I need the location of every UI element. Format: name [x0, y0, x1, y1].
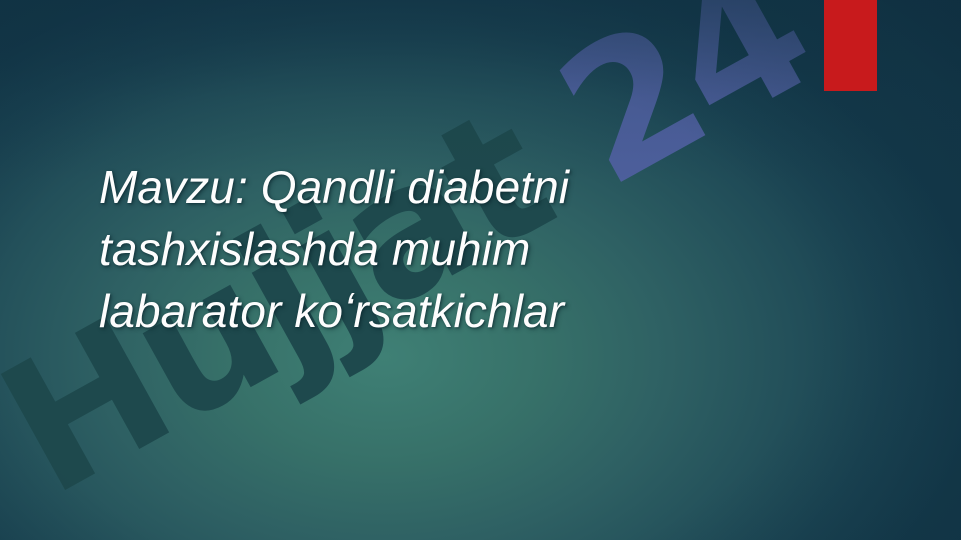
slide-title-line-3: labarator koʻrsatkichlar: [99, 280, 799, 342]
slide-title-line-1: Mavzu: Qandli diabetni: [99, 156, 799, 218]
slide-title-line-2: tashxislashda muhim: [99, 218, 799, 280]
presentation-slide: Hujjat 24 Mavzu: Qandli diabetni tashxis…: [0, 0, 961, 540]
slide-title: Mavzu: Qandli diabetni tashxislashda muh…: [99, 156, 799, 342]
red-accent-bar: [824, 0, 877, 91]
